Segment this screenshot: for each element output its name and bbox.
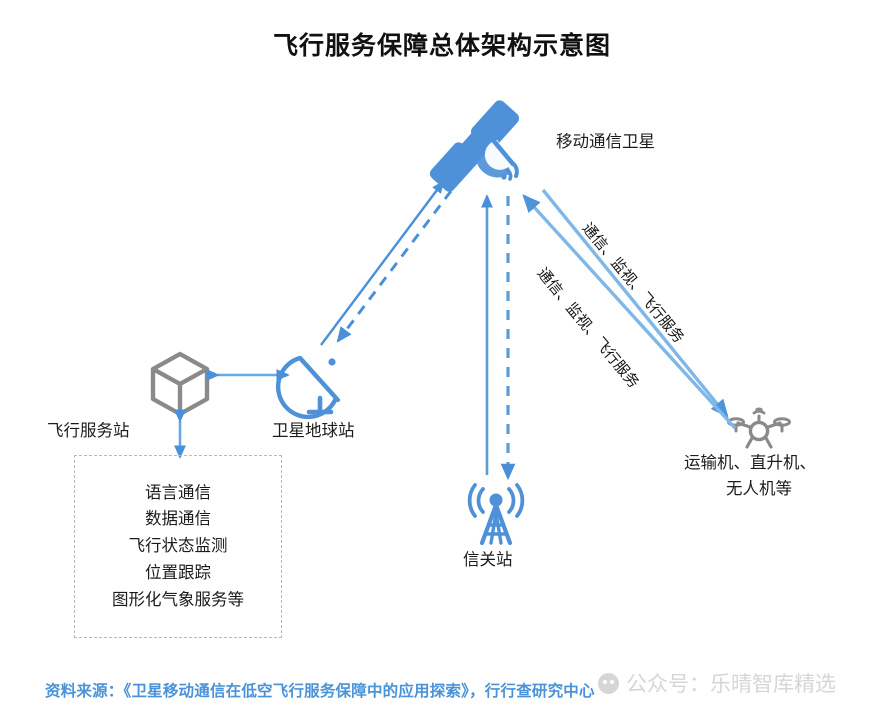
service-item: 数据通信 (145, 506, 211, 533)
service-capability-box: 语言通信 数据通信 飞行状态监测 位置跟踪 图形化气象服务等 (74, 455, 282, 638)
aircraft-label-line2: 无人机等 (726, 478, 792, 500)
diagram-root: 飞行服务保障总体架构示意图 (0, 0, 884, 722)
edge-satellite-to-earthstation (338, 191, 451, 341)
drone-icon (729, 409, 790, 447)
service-item: 飞行状态监测 (129, 533, 228, 560)
satellite-label: 移动通信卫星 (556, 131, 655, 153)
gateway-station-label: 信关站 (463, 549, 513, 571)
edge-aircraft-to-satellite (524, 196, 735, 428)
edge-earthstation-to-satellite (321, 182, 443, 345)
cube-icon (153, 354, 207, 414)
earth-station-label: 卫星地球站 (272, 420, 355, 442)
aircraft-label-line1: 运输机、直升机、 (684, 452, 816, 474)
radio-tower-icon (470, 485, 523, 543)
service-item: 语言通信 (145, 480, 211, 507)
satellite-icon (427, 98, 521, 194)
service-item: 图形化气象服务等 (112, 587, 244, 614)
service-item: 位置跟踪 (145, 560, 211, 587)
satellite-dish-icon (278, 358, 338, 417)
source-note: 资料来源：《卫星移动通信在低空飞行服务保障中的应用探索》，行行查研究中心 (45, 679, 595, 701)
flight-service-station-label: 飞行服务站 (47, 420, 130, 442)
